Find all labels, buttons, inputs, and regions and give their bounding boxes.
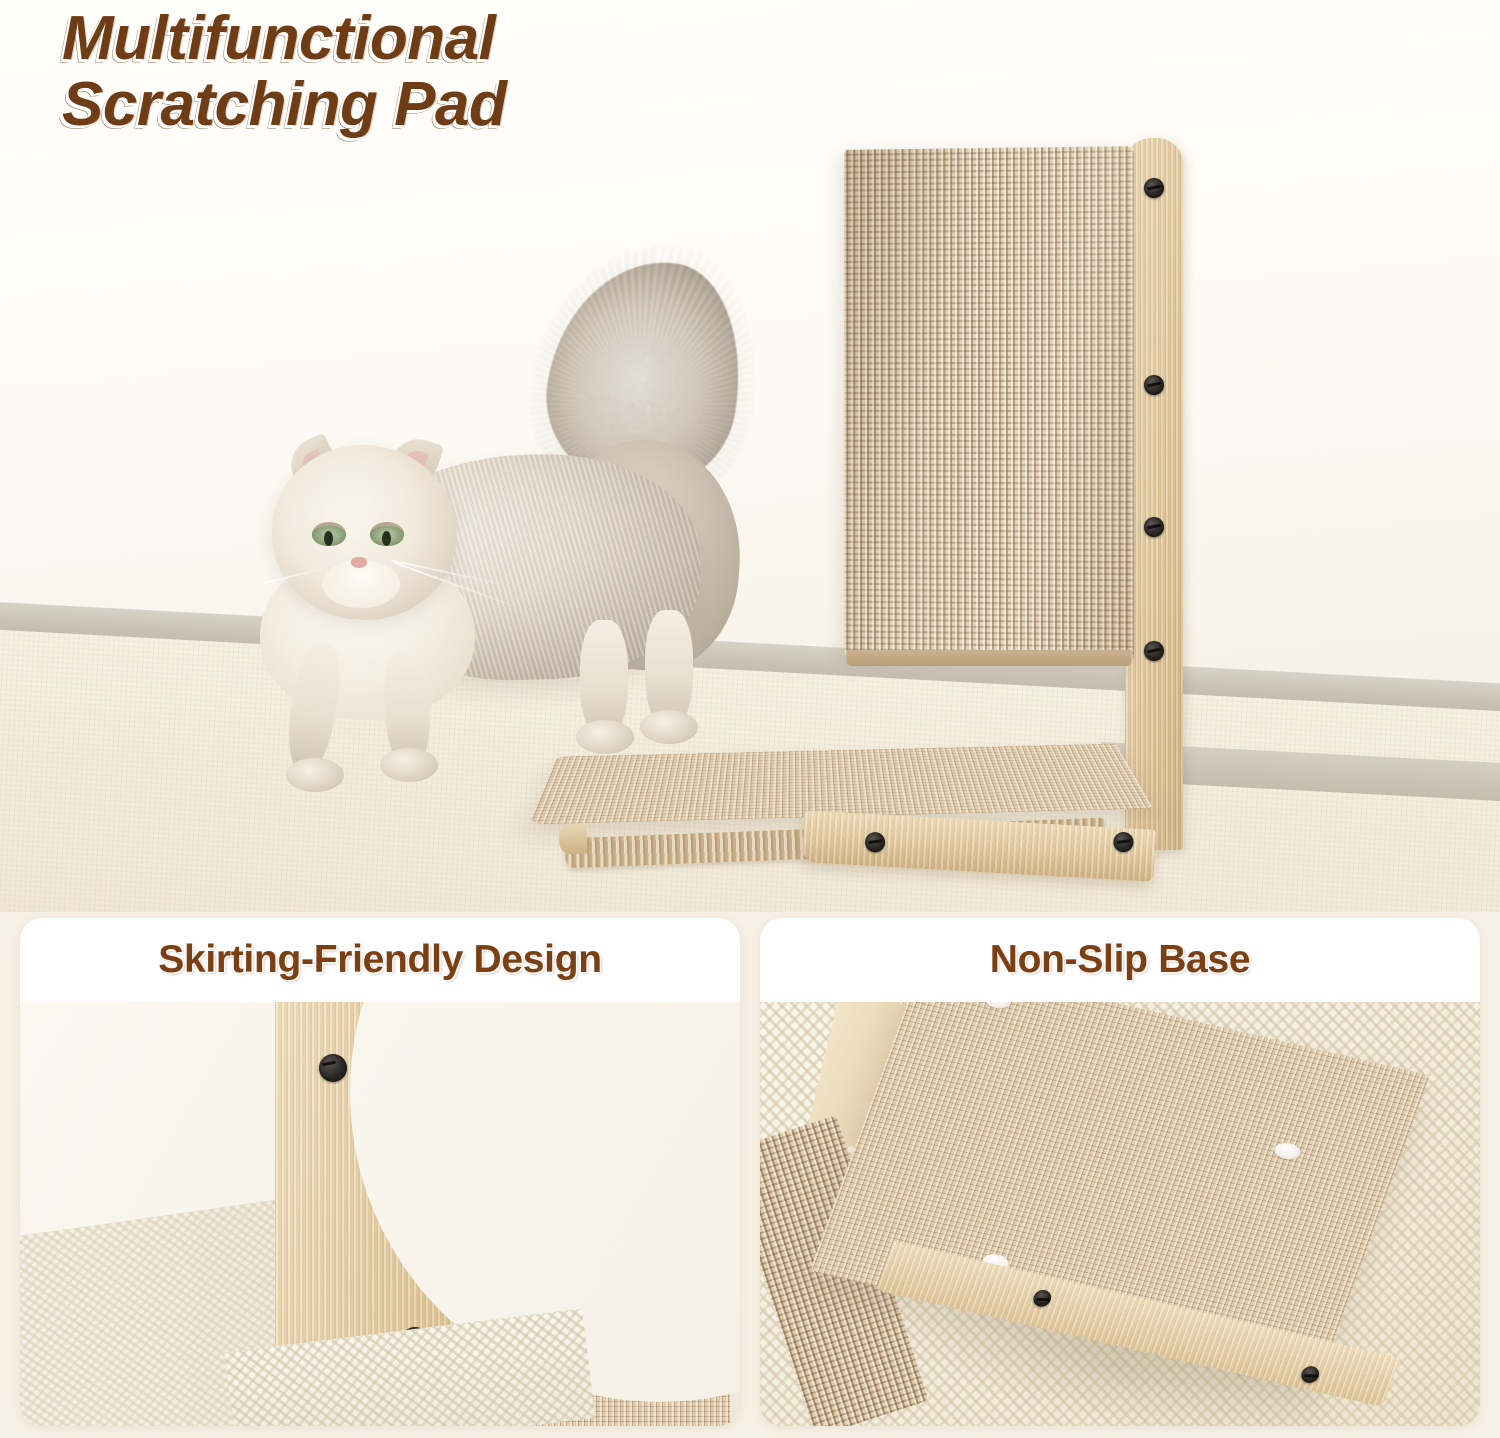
cat-eye-left [312,522,346,546]
pad-shading [844,146,1133,660]
cat-eye-right [370,522,404,546]
cat-paw [576,720,634,754]
cat-pupil [324,531,333,546]
screw-icon [319,1054,347,1082]
feature-card-nonslip: Non-Slip Base [760,918,1480,1426]
card-photo-nonslip [760,1002,1480,1426]
cat-nose [351,557,367,568]
screw-icon [1144,517,1164,537]
cat-paw [286,758,344,792]
hero-photo: Multifunctional Scratching Pad [0,0,1500,912]
cat-pupil [382,531,391,546]
cat-paw [380,748,438,782]
cat-paw [640,710,698,744]
screw-icon [1031,1288,1053,1308]
non-slip-pad [983,1002,1014,1011]
screw-icon [1144,178,1164,198]
card-title: Skirting-Friendly Design [20,918,740,1002]
card-photo-skirting [20,1002,740,1426]
feature-card-skirting: Skirting-Friendly Design [20,918,740,1426]
screw-icon [1113,832,1134,853]
vertical-scratch-pad [844,146,1133,660]
cat-photo-subject [250,250,760,870]
screw-icon [865,832,886,853]
screw-icon [1144,375,1164,395]
non-slip-pad [1272,1141,1303,1162]
feature-cards: Skirting-Friendly Design Non-Slip Base [0,918,1500,1426]
card-title: Non-Slip Base [760,918,1480,1002]
page-title: Multifunctional Scratching Pad [62,6,842,137]
vertical-pad-lip [846,650,1131,666]
screw-icon [1144,641,1164,661]
screw-icon [1299,1365,1321,1385]
